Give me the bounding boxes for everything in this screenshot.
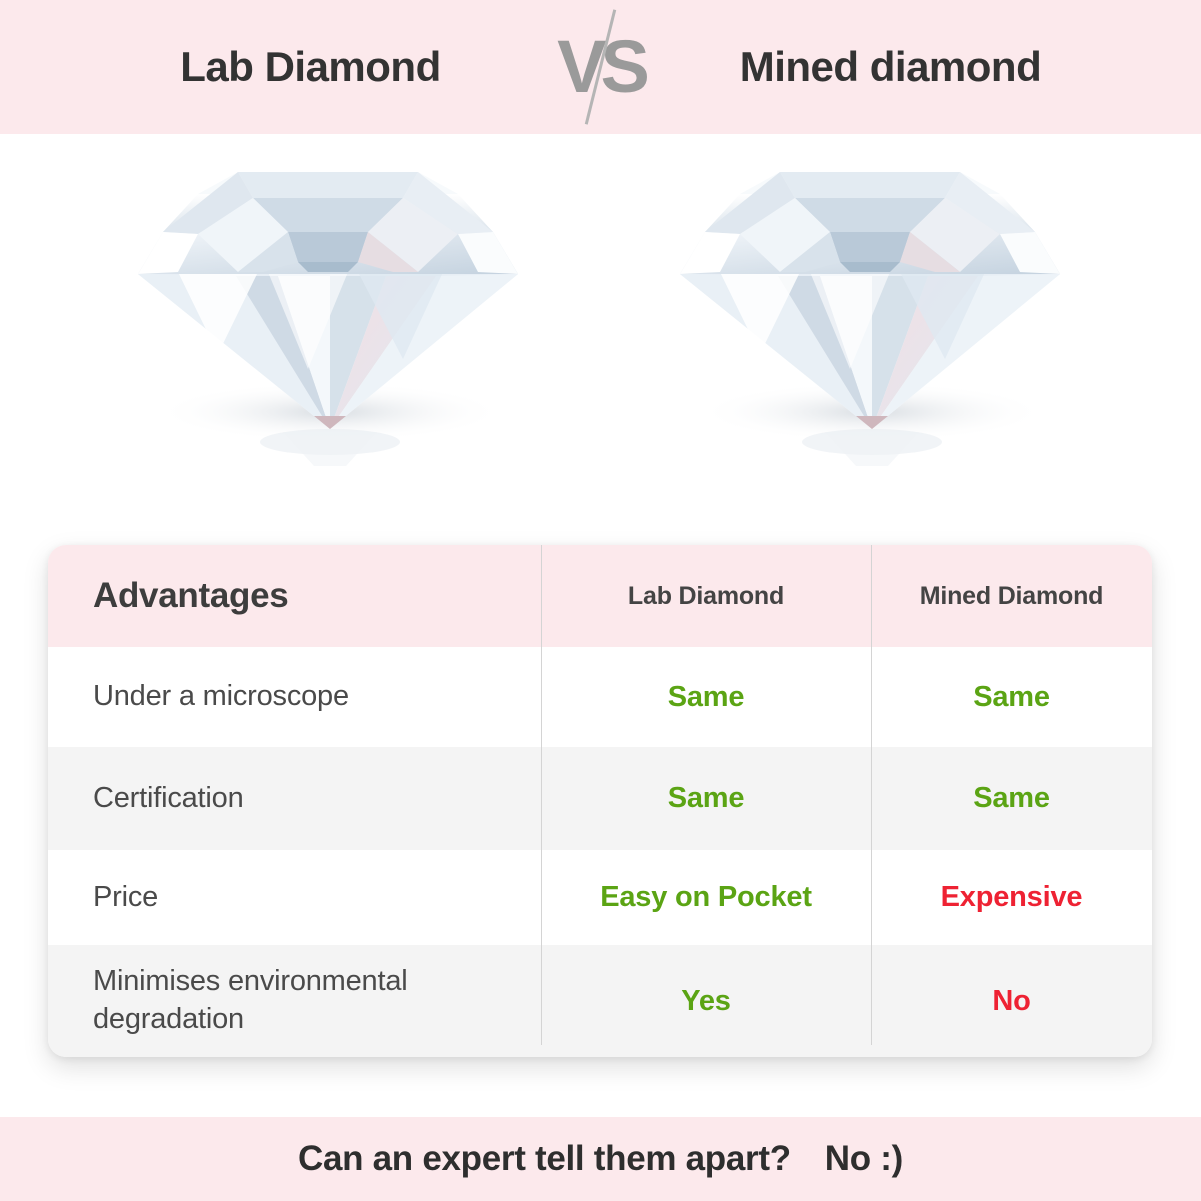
diamond-image-area <box>0 134 1201 534</box>
mined-diamond-image <box>660 154 1080 484</box>
header-lab-label: Lab Diamond <box>628 582 784 611</box>
row-lab-cell: Yes <box>541 945 871 1057</box>
row-feature-label: Price <box>93 879 158 917</box>
row-mined-cell: Expensive <box>871 850 1152 945</box>
row-mined-value: Same <box>973 681 1050 714</box>
row-mined-cell: Same <box>871 747 1152 850</box>
row-feature-label: Certification <box>93 780 244 818</box>
row-feature-cell: Certification <box>48 747 541 850</box>
column-divider-2 <box>871 647 872 747</box>
row-feature-cell: Minimises environmental degradation <box>48 945 541 1057</box>
table-row: Certification Same Same <box>48 747 1152 850</box>
header-mined-label: Mined Diamond <box>920 582 1104 611</box>
table-row: Minimises environmental degradation Yes … <box>48 945 1152 1057</box>
lab-diamond-image <box>118 154 538 484</box>
row-lab-value: Yes <box>681 985 730 1018</box>
row-lab-cell: Same <box>541 647 871 747</box>
column-divider-1 <box>541 545 542 647</box>
table-header-row: Advantages Lab Diamond Mined Diamond <box>48 545 1152 647</box>
header-cell-lab: Lab Diamond <box>541 545 871 647</box>
column-divider-2 <box>871 945 872 1045</box>
column-divider-2 <box>871 747 872 850</box>
row-feature-label: Under a microscope <box>93 678 349 716</box>
row-mined-value: Expensive <box>941 881 1083 914</box>
row-lab-value: Same <box>668 782 745 815</box>
column-divider-1 <box>541 850 542 945</box>
column-divider-2 <box>871 545 872 647</box>
comparison-table: Advantages Lab Diamond Mined Diamond Und… <box>48 545 1152 1057</box>
column-divider-1 <box>541 747 542 850</box>
footer-band: Can an expert tell them apart? No :) <box>0 1117 1201 1201</box>
row-mined-cell: No <box>871 945 1152 1057</box>
row-feature-label: Minimises environmental degradation <box>93 963 541 1038</box>
right-product-title: Mined diamond <box>661 43 1121 91</box>
footer-answer: No :) <box>825 1139 903 1179</box>
table-row: Under a microscope Same Same <box>48 647 1152 747</box>
footer-question: Can an expert tell them apart? <box>298 1139 791 1179</box>
header-cell-advantages: Advantages <box>48 545 541 647</box>
row-lab-cell: Same <box>541 747 871 850</box>
row-feature-cell: Price <box>48 850 541 945</box>
row-mined-value: Same <box>973 782 1050 815</box>
row-mined-cell: Same <box>871 647 1152 747</box>
versus-badge: VS <box>541 0 661 134</box>
table-row: Price Easy on Pocket Expensive <box>48 850 1152 945</box>
row-lab-value: Same <box>668 681 745 714</box>
header-band: Lab Diamond VS Mined diamond <box>0 0 1201 134</box>
row-lab-cell: Easy on Pocket <box>541 850 871 945</box>
row-feature-cell: Under a microscope <box>48 647 541 747</box>
column-divider-1 <box>541 945 542 1045</box>
row-lab-value: Easy on Pocket <box>600 881 812 914</box>
row-mined-value: No <box>992 985 1030 1018</box>
left-product-title: Lab Diamond <box>81 43 541 91</box>
column-divider-2 <box>871 850 872 945</box>
column-divider-1 <box>541 647 542 747</box>
header-advantages-label: Advantages <box>93 576 288 616</box>
header-cell-mined: Mined Diamond <box>871 545 1152 647</box>
